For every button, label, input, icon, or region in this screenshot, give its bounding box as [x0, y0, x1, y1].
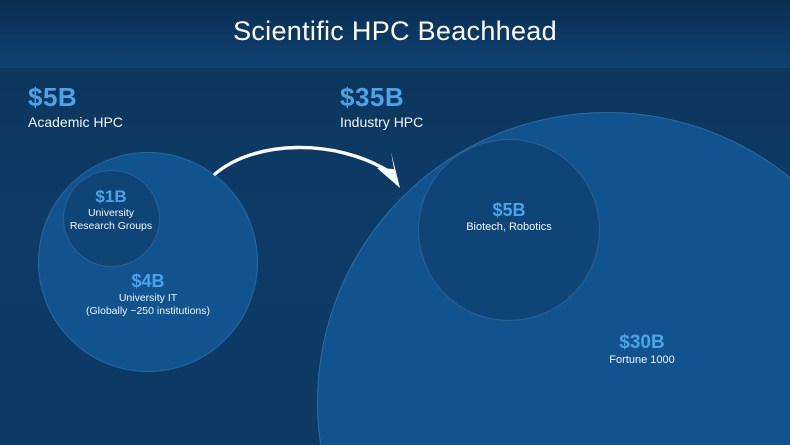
academic-outer-line1: University IT [68, 292, 228, 305]
academic-group-caption: Academic HPC [28, 113, 123, 132]
academic-inner-amount: $1B [61, 188, 161, 207]
academic-outer-amount: $4B [68, 272, 228, 292]
industry-inner-amount: $5B [429, 201, 589, 221]
academic-outer-label: $4B University IT (Globally ~250 institu… [68, 272, 228, 318]
academic-inner-line1: University [61, 207, 161, 220]
slide-canvas: Scientific HPC Beachhead $5B Academic HP… [0, 0, 790, 445]
academic-inner-label: $1B University Research Groups [61, 188, 161, 233]
industry-group-label: $35B Industry HPC [340, 82, 423, 132]
industry-outer-label: $30B Fortune 1000 [572, 333, 712, 368]
academic-group-amount: $5B [28, 82, 123, 112]
academic-group-label: $5B Academic HPC [28, 82, 123, 132]
industry-group-amount: $35B [340, 82, 423, 112]
industry-inner-line1: Biotech, Robotics [429, 221, 589, 235]
industry-group-caption: Industry HPC [340, 113, 423, 132]
academic-outer-line2: (Globally ~250 institutions) [68, 305, 228, 318]
industry-inner-label: $5B Biotech, Robotics [429, 201, 589, 235]
page-title: Scientific HPC Beachhead [0, 16, 790, 47]
academic-inner-line2: Research Groups [61, 220, 161, 233]
academic-outer-bubble [38, 152, 258, 372]
industry-outer-line1: Fortune 1000 [572, 354, 712, 368]
industry-outer-amount: $30B [572, 333, 712, 354]
